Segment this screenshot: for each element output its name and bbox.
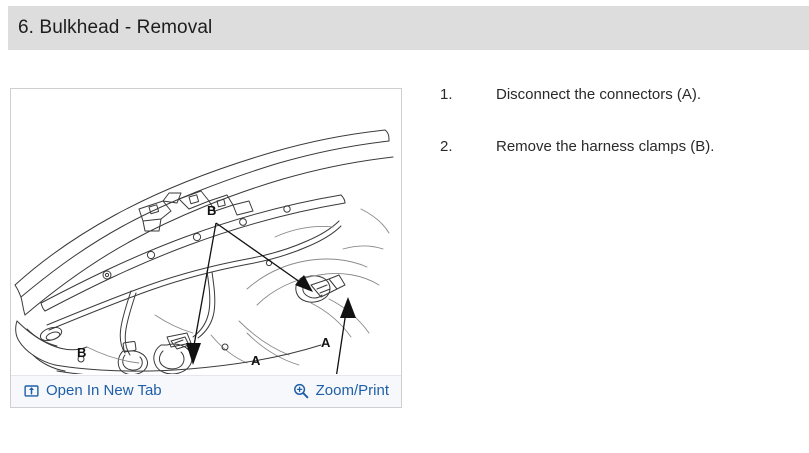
list-item: 1. Disconnect the connectors (A). <box>440 86 800 104</box>
step-text: Remove the harness clamps (B). <box>496 138 714 156</box>
callout-label-b-top: B <box>207 203 216 218</box>
callout-label-a-right: A <box>321 335 330 350</box>
step-text: Disconnect the connectors (A). <box>496 86 701 104</box>
bulkhead-line-drawing <box>11 89 401 374</box>
figure-footer-bar: Open In New Tab Zoom/Print <box>11 375 401 407</box>
step-number: 1. <box>440 86 496 103</box>
callout-label-b-bottom: B <box>77 345 86 360</box>
open-in-new-tab-link[interactable]: Open In New Tab <box>23 382 162 399</box>
zoom-print-label: Zoom/Print <box>316 382 389 399</box>
magnifier-plus-icon <box>293 382 310 399</box>
figure-panel: B B A A Open In New Tab <box>10 88 402 408</box>
callout-label-a-bottom: A <box>251 353 260 368</box>
open-in-new-tab-icon <box>23 382 40 399</box>
list-item: 2. Remove the harness clamps (B). <box>440 138 800 156</box>
section-header-bar: 6. Bulkhead - Removal <box>8 6 809 50</box>
page-title: 6. Bulkhead - Removal <box>18 17 212 39</box>
open-in-new-tab-label: Open In New Tab <box>46 382 162 399</box>
instruction-steps-list: 1. Disconnect the connectors (A). 2. Rem… <box>440 86 800 190</box>
technical-illustration: B B A A <box>11 89 401 374</box>
step-number: 2. <box>440 138 496 155</box>
zoom-print-link[interactable]: Zoom/Print <box>293 382 389 399</box>
